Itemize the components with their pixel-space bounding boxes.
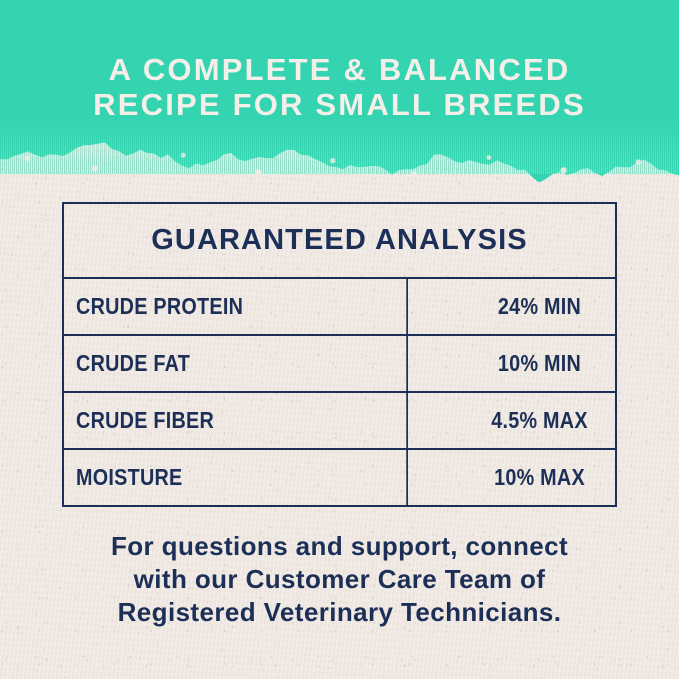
nutrient-label: MOISTURE: [64, 450, 408, 505]
footer-line-3: Registered Veterinary Technicians.: [0, 596, 679, 629]
nutrient-value: 4.5% MAX: [475, 393, 605, 448]
footer-line-1: For questions and support, connect: [0, 530, 679, 563]
table-row: CRUDE FIBER 4.5% MAX: [64, 393, 615, 450]
table-row: CRUDE FAT 10% MIN: [64, 336, 615, 393]
guaranteed-analysis-title: GUARANTEED ANALYSIS: [64, 204, 615, 279]
headline-line-2: RECIPE FOR SMALL BREEDS: [0, 87, 679, 122]
product-info-panel: A COMPLETE & BALANCED RECIPE FOR SMALL B…: [0, 0, 679, 679]
nutrient-value: 10% MAX: [475, 450, 605, 505]
footer-line-2: with our Customer Care Team of: [0, 563, 679, 596]
nutrient-label: CRUDE FAT: [64, 336, 408, 391]
nutrient-value: 10% MIN: [475, 336, 605, 391]
table-row: CRUDE PROTEIN 24% MIN: [64, 279, 615, 336]
nutrient-label: CRUDE FIBER: [64, 393, 408, 448]
nutrient-value: 24% MIN: [475, 279, 605, 334]
headline-line-1: A COMPLETE & BALANCED: [0, 52, 679, 87]
guaranteed-analysis-table: GUARANTEED ANALYSIS CRUDE PROTEIN 24% MI…: [62, 202, 617, 507]
customer-care-note: For questions and support, connect with …: [0, 530, 679, 629]
teal-banner: A COMPLETE & BALANCED RECIPE FOR SMALL B…: [0, 0, 679, 182]
banner-headline: A COMPLETE & BALANCED RECIPE FOR SMALL B…: [0, 52, 679, 122]
table-row: MOISTURE 10% MAX: [64, 450, 615, 505]
nutrient-label: CRUDE PROTEIN: [64, 279, 408, 334]
